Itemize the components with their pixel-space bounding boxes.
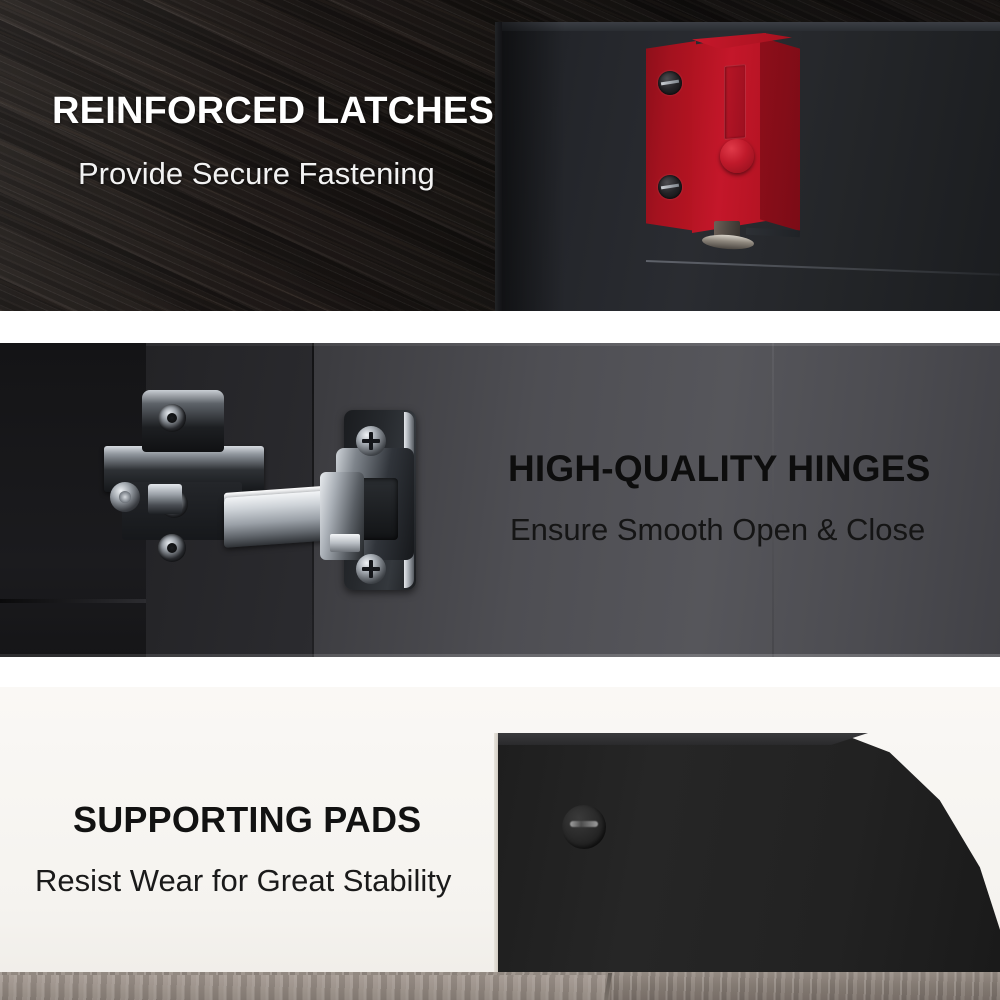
latches-text-block: REINFORCED LATCHES Provide Secure Fasten… <box>52 92 494 189</box>
panel-reinforced-latches: REINFORCED LATCHES Provide Secure Fasten… <box>0 0 1000 311</box>
red-latch-hardware <box>646 33 800 238</box>
hinge-phillips-screw-top-icon <box>356 426 386 456</box>
pads-cabinet-top-edge <box>498 733 868 745</box>
hinge-cam-block <box>148 484 182 514</box>
product-feature-infographic: REINFORCED LATCHES Provide Secure Fasten… <box>0 0 1000 1000</box>
hinge-phillips-screw-bottom-icon <box>356 554 386 584</box>
latch-slot <box>724 64 746 140</box>
hinges-title: HIGH-QUALITY HINGES <box>508 450 930 487</box>
pads-subtitle: Resist Wear for Great Stability <box>35 865 451 896</box>
pads-text-block: SUPPORTING PADS Resist Wear for Great St… <box>73 802 451 896</box>
latches-subtitle: Provide Secure Fastening <box>78 158 494 189</box>
hinges-text-block: HIGH-QUALITY HINGES Ensure Smooth Open &… <box>508 450 930 545</box>
latch-screw-bottom-icon <box>658 175 682 199</box>
latch-release-button <box>720 139 754 173</box>
hinge-adjustment-screw-icon <box>110 482 140 512</box>
supporting-pad-highlight <box>570 821 598 827</box>
panel-divider-2 <box>0 657 1000 687</box>
latches-title: REINFORCED LATCHES <box>52 92 494 130</box>
cabinet-top-edge <box>495 22 1000 31</box>
hinge-clip <box>330 534 360 552</box>
panel-divider-1 <box>0 311 1000 343</box>
supporting-pad <box>562 805 606 849</box>
hinge-screw-hole-bottom-icon <box>158 534 186 562</box>
pads-title: SUPPORTING PADS <box>73 802 451 838</box>
hinge-panel-top-highlight <box>146 343 1000 346</box>
concealed-hinge-hardware <box>104 386 444 616</box>
latch-mounting-flange <box>646 41 696 231</box>
latch-screw-top-icon <box>658 71 682 95</box>
hinge-screw-hole-top-icon <box>158 404 186 432</box>
latch-side-face <box>760 37 800 231</box>
hinges-subtitle: Ensure Smooth Open & Close <box>510 514 930 545</box>
floor-surface-left <box>0 975 610 1000</box>
hinge-arm <box>224 490 334 548</box>
latch-strike-tab <box>746 228 800 238</box>
cabinet-shadow <box>495 22 565 311</box>
